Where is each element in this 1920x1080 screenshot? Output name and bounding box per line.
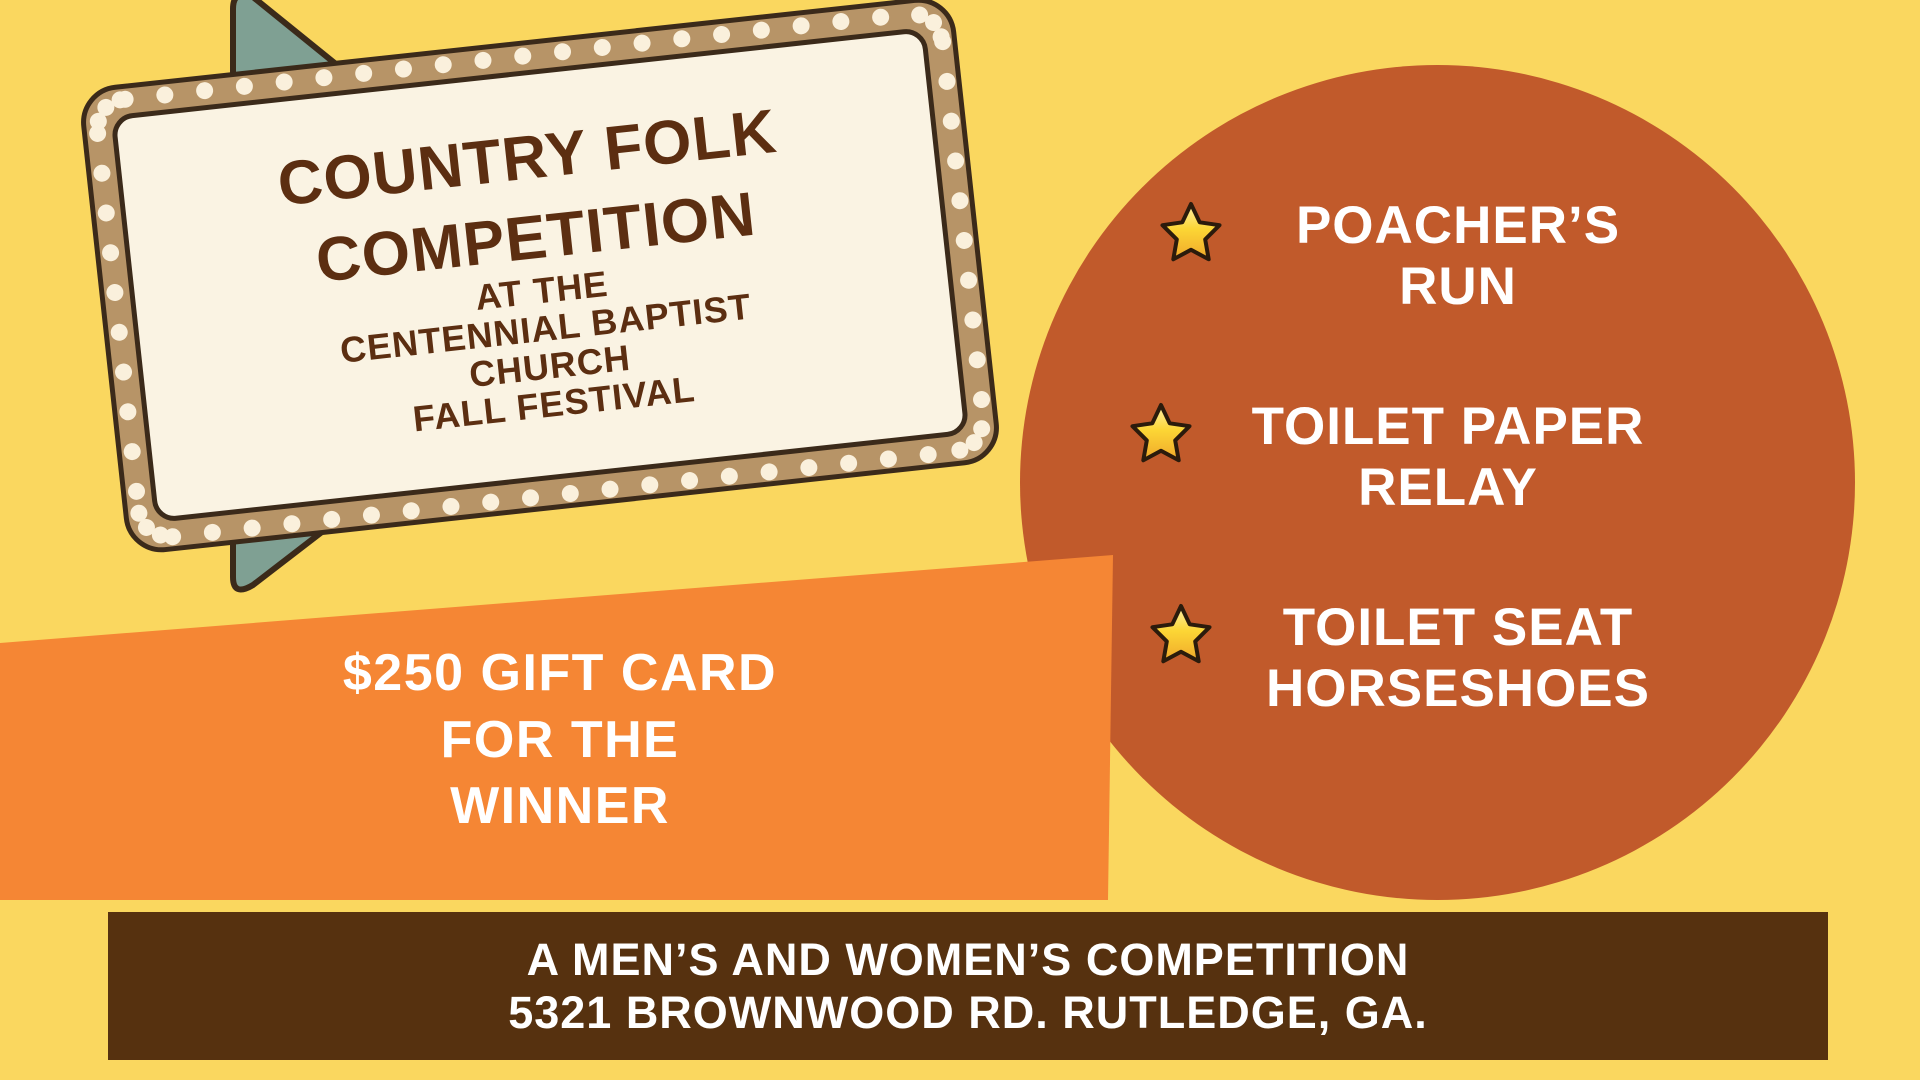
- event-label: TOILET PAPER RELAY: [1206, 396, 1690, 519]
- banner-line-2: 5321 BROWNWOOD RD. RUTLEDGE, GA.: [508, 986, 1428, 1039]
- star-icon: [1130, 402, 1192, 464]
- marquee-sign: COUNTRY FOLK COMPETITION AT THE CENTENNI…: [77, 0, 1003, 556]
- bottom-info-banner: A MEN’S AND WOMEN’S COMPETITION 5321 BRO…: [108, 912, 1828, 1060]
- prize-text-block: $250 GIFT CARD FOR THE WINNER: [180, 640, 940, 840]
- event-item-toilet-paper-relay: TOILET PAPER RELAY: [1130, 396, 1690, 519]
- event-item-toilet-seat-horseshoes: TOILET SEAT HORSESHOES: [1150, 597, 1690, 720]
- flyer-canvas: COUNTRY FOLK COMPETITION AT THE CENTENNI…: [0, 0, 1920, 1080]
- event-label: TOILET SEAT HORSESHOES: [1226, 597, 1690, 720]
- prize-line-3: WINNER: [180, 773, 940, 840]
- prize-line-1: $250 GIFT CARD: [180, 640, 940, 707]
- events-list: POACHER’S RUN TOILET PAPER RELAY: [1090, 195, 1710, 720]
- event-label: POACHER’S RUN: [1236, 195, 1680, 318]
- banner-line-1: A MEN’S AND WOMEN’S COMPETITION: [527, 933, 1410, 986]
- star-icon: [1150, 603, 1212, 665]
- star-icon: [1160, 201, 1222, 263]
- sign-text-block: COUNTRY FOLK COMPETITION AT THE CENTENNI…: [121, 84, 958, 466]
- event-item-poachers-run: POACHER’S RUN: [1160, 195, 1680, 318]
- prize-line-2: FOR THE: [180, 707, 940, 774]
